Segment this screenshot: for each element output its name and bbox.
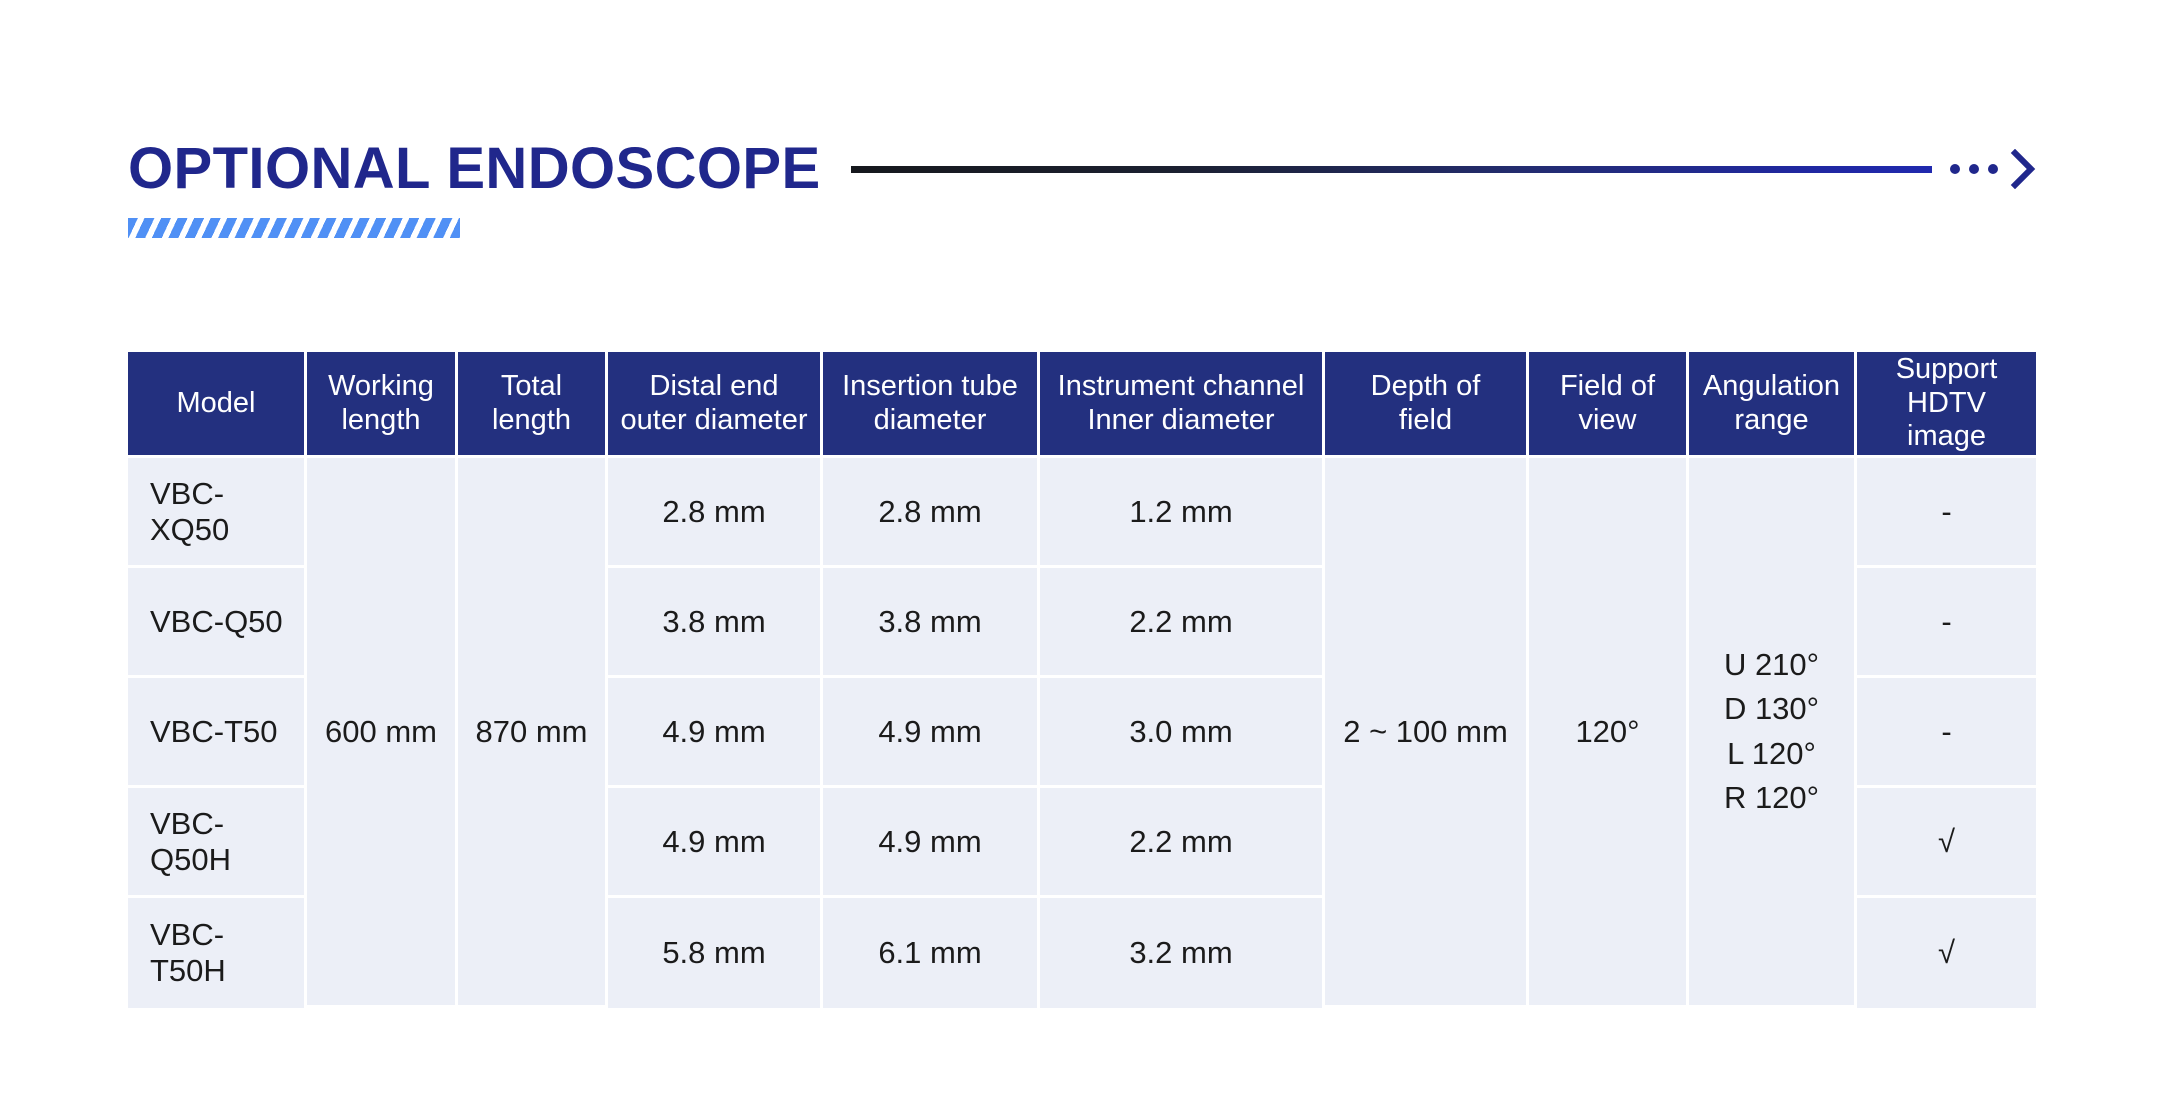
col-header-working-length[interactable]: Working length: [307, 352, 458, 458]
dot-icon-1: [1950, 164, 1960, 174]
cell-depth-of-field-merged: 2 ~ 100 mm: [1325, 458, 1529, 1008]
cell-instrument-channel-inner-diameter: 2.2 mm: [1040, 788, 1325, 898]
cell-field-of-view-merged: 120°: [1529, 458, 1689, 1008]
col-header-angulation-range-line-1: Angulation: [1703, 370, 1840, 402]
col-header-insertion-tube-line-1: Insertion tube: [842, 370, 1018, 402]
angulation-down: D 130°: [1724, 691, 1819, 726]
col-header-depth-of-field[interactable]: Depth of field: [1325, 352, 1529, 458]
cell-working-length-merged: 600 mm: [307, 458, 458, 1008]
cell-distal-end-outer-diameter: 3.8 mm: [608, 568, 823, 678]
gradient-rule: [851, 166, 1932, 173]
cell-support-hdtv-image: -: [1857, 678, 2036, 788]
cell-support-hdtv-image: -: [1857, 568, 2036, 678]
cell-distal-end-outer-diameter: 4.9 mm: [608, 678, 823, 788]
page-title: OPTIONAL ENDOSCOPE: [128, 140, 851, 198]
dot-icon-3: [1988, 164, 1998, 174]
page-root: OPTIONAL ENDOSCOPE: [0, 0, 2160, 1114]
col-header-instrument-channel-line-2: Inner diameter: [1088, 404, 1275, 436]
hatch-underline-decoration: [128, 218, 460, 238]
col-header-field-of-view-line-2: view: [1578, 404, 1636, 436]
cell-distal-end-outer-diameter: 5.8 mm: [608, 898, 823, 1008]
col-header-distal-end-outer-diameter[interactable]: Distal end outer diameter: [608, 352, 823, 458]
cell-insertion-tube-diameter: 4.9 mm: [823, 678, 1040, 788]
cell-support-hdtv-image: -: [1857, 458, 2036, 568]
cell-instrument-channel-inner-diameter: 3.0 mm: [1040, 678, 1325, 788]
col-header-total-length[interactable]: Total length: [458, 352, 608, 458]
cell-instrument-channel-inner-diameter: 3.2 mm: [1040, 898, 1325, 1008]
cell-support-hdtv-image: √: [1857, 898, 2036, 1008]
angulation-left: L 120°: [1727, 736, 1816, 771]
col-header-field-of-view[interactable]: Field of view: [1529, 352, 1689, 458]
col-header-total-length-line-1: Total: [501, 370, 562, 402]
cell-model: VBC-T50: [128, 678, 307, 788]
header-rule-group: [851, 128, 2036, 210]
angulation-up: U 210°: [1724, 647, 1819, 682]
cell-model: VBC-Q50H: [128, 788, 307, 898]
ellipsis-dots-icon: [1950, 164, 1998, 174]
col-header-working-length-line-2: length: [341, 404, 420, 436]
cell-insertion-tube-diameter: 2.8 mm: [823, 458, 1040, 568]
cell-instrument-channel-inner-diameter: 2.2 mm: [1040, 568, 1325, 678]
cell-total-length-merged: 870 mm: [458, 458, 608, 1008]
cell-insertion-tube-diameter: 3.8 mm: [823, 568, 1040, 678]
col-header-field-of-view-line-1: Field of: [1560, 370, 1655, 402]
cell-insertion-tube-diameter: 4.9 mm: [823, 788, 1040, 898]
cell-insertion-tube-diameter: 6.1 mm: [823, 898, 1040, 1008]
table-body: VBC-XQ50 600 mm 870 mm 2.8 mm 2.8 mm 1.2…: [128, 458, 2036, 1008]
cell-instrument-channel-inner-diameter: 1.2 mm: [1040, 458, 1325, 568]
cell-model: VBC-Q50: [128, 568, 307, 678]
col-header-distal-end-line-2: outer diameter: [621, 404, 808, 436]
angulation-right: R 120°: [1724, 780, 1819, 815]
col-header-model[interactable]: Model: [128, 352, 307, 458]
table-header: Model Working length Total length Distal…: [128, 352, 2036, 458]
col-header-depth-of-field-line-2: field: [1399, 404, 1452, 436]
col-header-support-hdtv-image[interactable]: Support HDTV image: [1857, 352, 2036, 458]
col-header-angulation-range[interactable]: Angulation range: [1689, 352, 1857, 458]
col-header-model-line-1: Model: [177, 387, 256, 419]
col-header-angulation-range-line-2: range: [1734, 404, 1808, 436]
col-header-working-length-line-1: Working: [328, 370, 434, 402]
col-header-depth-of-field-line-1: Depth of: [1371, 370, 1481, 402]
col-header-distal-end-line-1: Distal end: [650, 370, 779, 402]
specs-table: Model Working length Total length Distal…: [128, 352, 2036, 1008]
cell-model: VBC-XQ50: [128, 458, 307, 568]
chevron-right-icon: [2010, 149, 2036, 189]
cell-distal-end-outer-diameter: 2.8 mm: [608, 458, 823, 568]
cell-distal-end-outer-diameter: 4.9 mm: [608, 788, 823, 898]
col-header-total-length-line-2: length: [492, 404, 571, 436]
table-row[interactable]: VBC-XQ50 600 mm 870 mm 2.8 mm 2.8 mm 1.2…: [128, 458, 2036, 568]
col-header-instrument-channel-inner-diameter[interactable]: Instrument channel Inner diameter: [1040, 352, 1325, 458]
cell-support-hdtv-image: √: [1857, 788, 2036, 898]
section-header: OPTIONAL ENDOSCOPE: [128, 128, 2036, 210]
dot-icon-2: [1969, 164, 1979, 174]
cell-model: VBC-T50H: [128, 898, 307, 1008]
col-header-insertion-tube-line-2: diameter: [874, 404, 987, 436]
col-header-insertion-tube-diameter[interactable]: Insertion tube diameter: [823, 352, 1040, 458]
cell-angulation-range-merged: U 210° D 130° L 120° R 120°: [1689, 458, 1857, 1008]
col-header-support-hdtv-line-1: Support: [1896, 353, 1998, 385]
table-header-row: Model Working length Total length Distal…: [128, 352, 2036, 458]
col-header-support-hdtv-line-2: HDTV image: [1907, 387, 1986, 453]
col-header-instrument-channel-line-1: Instrument channel: [1058, 370, 1305, 402]
